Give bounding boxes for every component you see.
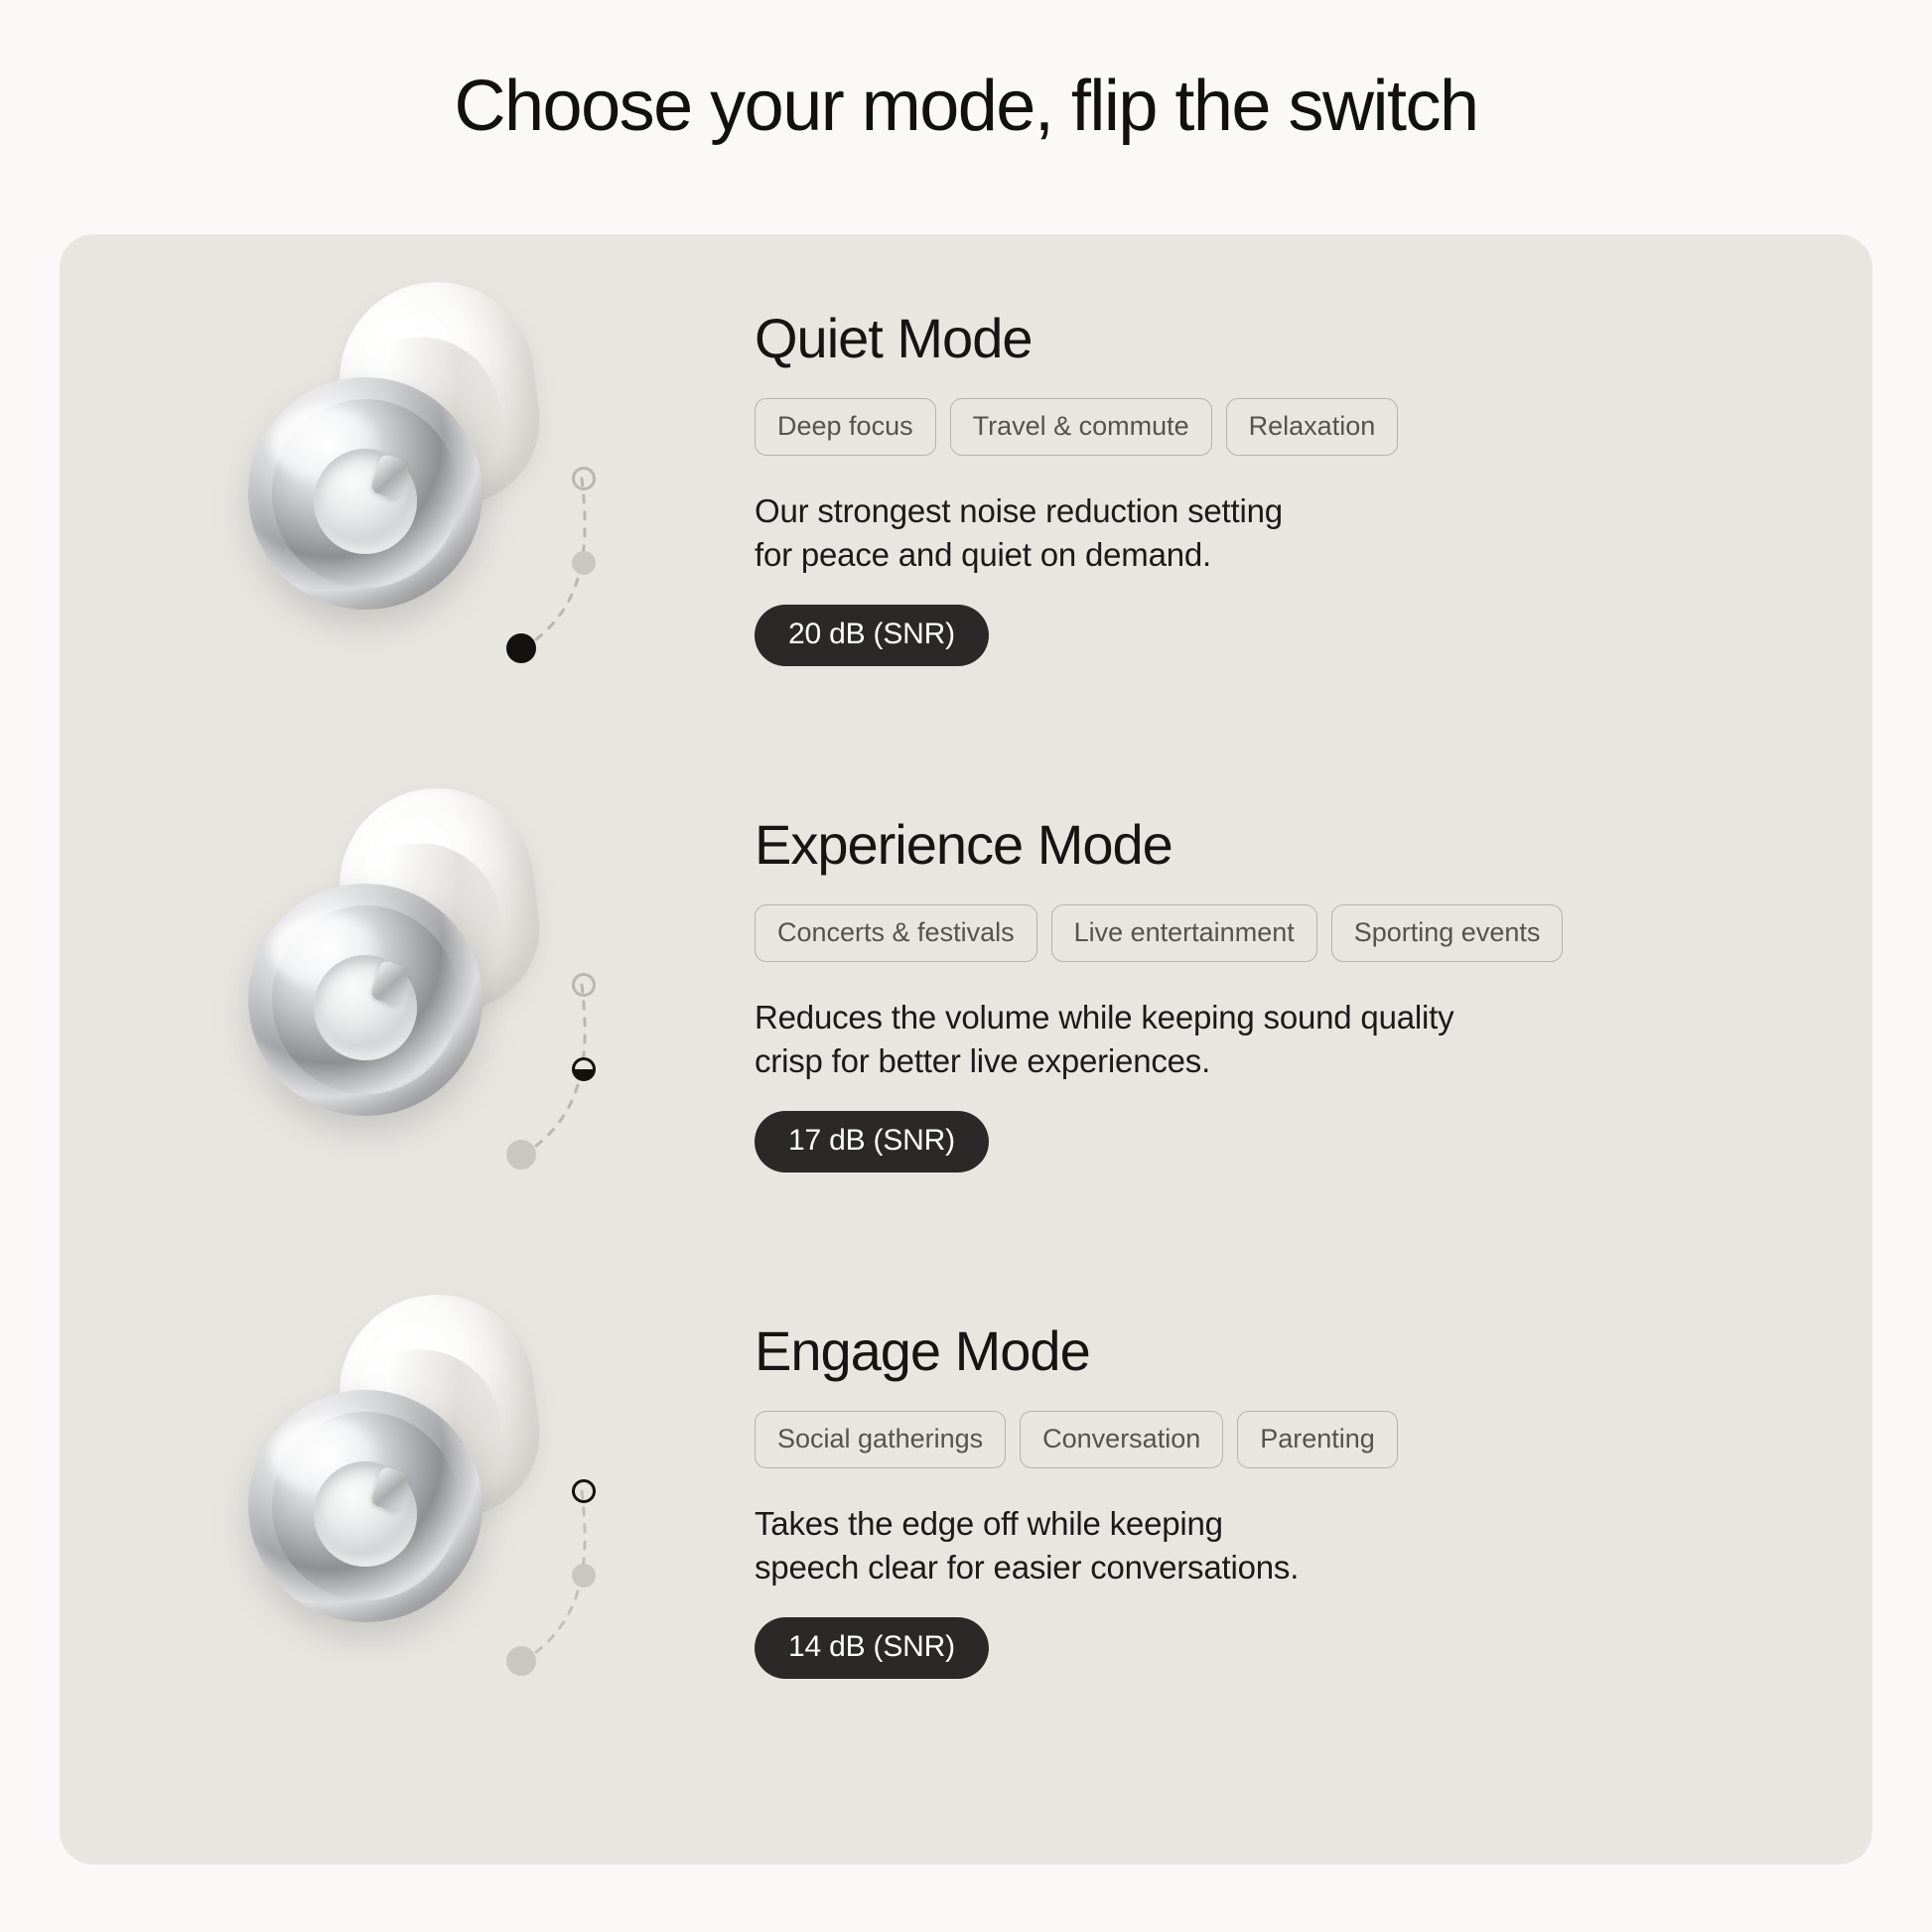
mode-title: Engage Mode — [755, 1322, 1813, 1381]
mode-chips: Social gatherings Conversation Parenting — [755, 1411, 1813, 1468]
indicator-dot-middle-active — [572, 1057, 596, 1081]
mode-chips: Deep focus Travel & commute Relaxation — [755, 398, 1813, 456]
indicator-dot-bottom-active — [506, 633, 536, 663]
indicator-dot-top — [572, 973, 596, 997]
indicator-dot-bottom — [506, 1140, 536, 1170]
earbud-illustration-quiet — [60, 258, 755, 764]
mode-indicator-experience — [486, 933, 616, 1181]
indicator-dot-bottom — [506, 1646, 536, 1676]
mode-chip[interactable]: Parenting — [1237, 1411, 1398, 1468]
indicator-dot-middle — [572, 551, 596, 575]
mode-chip[interactable]: Concerts & festivals — [755, 904, 1037, 962]
mode-chip[interactable]: Social gatherings — [755, 1411, 1006, 1468]
mode-row-engage: Engage Mode Social gatherings Conversati… — [60, 1271, 1872, 1777]
indicator-path-icon — [486, 1440, 616, 1688]
mode-content-engage: Engage Mode Social gatherings Conversati… — [755, 1271, 1872, 1679]
mode-title: Experience Mode — [755, 816, 1813, 875]
ring-highlight — [270, 913, 379, 987]
mode-row-experience: Experience Mode Concerts & festivals Liv… — [60, 764, 1872, 1271]
mode-description: Our strongest noise reduction setting fo… — [755, 489, 1813, 577]
mode-indicator-engage — [486, 1440, 616, 1688]
mode-chip[interactable]: Deep focus — [755, 398, 936, 456]
mode-chip[interactable]: Conversation — [1020, 1411, 1223, 1468]
earbud-illustration-engage — [60, 1271, 755, 1777]
snr-badge: 14 dB (SNR) — [755, 1617, 989, 1679]
earbud-illustration-experience — [60, 764, 755, 1271]
indicator-dot-top — [572, 467, 596, 490]
mode-description: Takes the edge off while keeping speech … — [755, 1502, 1813, 1589]
mode-title: Quiet Mode — [755, 310, 1813, 368]
mode-chip[interactable]: Relaxation — [1226, 398, 1399, 456]
snr-badge: 20 dB (SNR) — [755, 605, 989, 666]
modes-list: Quiet Mode Deep focus Travel & commute R… — [60, 234, 1872, 1864]
mode-content-quiet: Quiet Mode Deep focus Travel & commute R… — [755, 258, 1872, 666]
mode-chip[interactable]: Sporting events — [1331, 904, 1564, 962]
indicator-path-icon — [486, 933, 616, 1181]
modes-card: Quiet Mode Deep focus Travel & commute R… — [60, 234, 1872, 1864]
snr-badge: 17 dB (SNR) — [755, 1111, 989, 1173]
indicator-path-icon — [486, 427, 616, 675]
chrome-ring-shape — [248, 884, 483, 1116]
chrome-ring-shape — [248, 1390, 483, 1622]
mode-chip[interactable]: Travel & commute — [950, 398, 1212, 456]
product-mode-comparison-page: Choose your mode, flip the switch — [0, 0, 1932, 1932]
indicator-dot-top-active — [572, 1479, 596, 1503]
indicator-dot-middle — [572, 1564, 596, 1587]
mode-chips: Concerts & festivals Live entertainment … — [755, 904, 1813, 962]
mode-row-quiet: Quiet Mode Deep focus Travel & commute R… — [60, 258, 1872, 764]
ring-highlight — [270, 1420, 379, 1493]
page-title: Choose your mode, flip the switch — [0, 68, 1932, 146]
ring-highlight — [270, 407, 379, 481]
chrome-ring-shape — [248, 377, 483, 610]
mode-chip[interactable]: Live entertainment — [1051, 904, 1317, 962]
mode-content-experience: Experience Mode Concerts & festivals Liv… — [755, 764, 1872, 1173]
mode-indicator-quiet — [486, 427, 616, 675]
mode-description: Reduces the volume while keeping sound q… — [755, 996, 1813, 1083]
